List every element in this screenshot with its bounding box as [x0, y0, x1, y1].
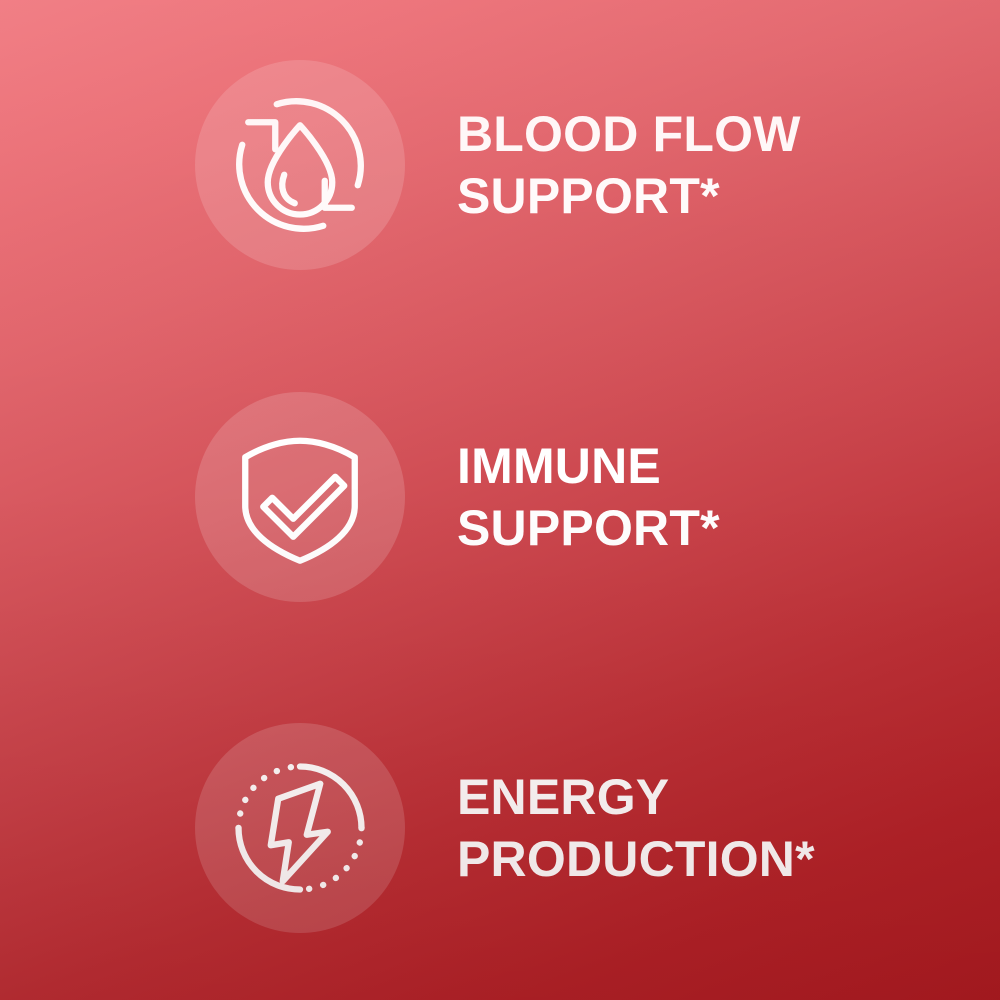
benefit-row-energy: ENERGY PRODUCTION*	[0, 723, 1000, 933]
benefits-panel: BLOOD FLOW SUPPORT* IMMUNE SUPPORT*	[0, 0, 1000, 1000]
shield-check-icon	[225, 422, 375, 572]
benefit-label-immune: IMMUNE SUPPORT*	[457, 435, 720, 559]
lightning-bolt-circle-icon	[225, 753, 375, 903]
benefit-label-blood-flow: BLOOD FLOW SUPPORT*	[457, 103, 801, 227]
icon-badge-energy	[195, 723, 405, 933]
benefit-row-blood-flow: BLOOD FLOW SUPPORT*	[0, 60, 1000, 270]
benefit-label-energy: ENERGY PRODUCTION*	[457, 766, 815, 890]
benefit-row-immune: IMMUNE SUPPORT*	[0, 392, 1000, 602]
icon-badge-immune	[195, 392, 405, 602]
blood-drop-circulation-icon	[225, 90, 375, 240]
icon-badge-blood-flow	[195, 60, 405, 270]
